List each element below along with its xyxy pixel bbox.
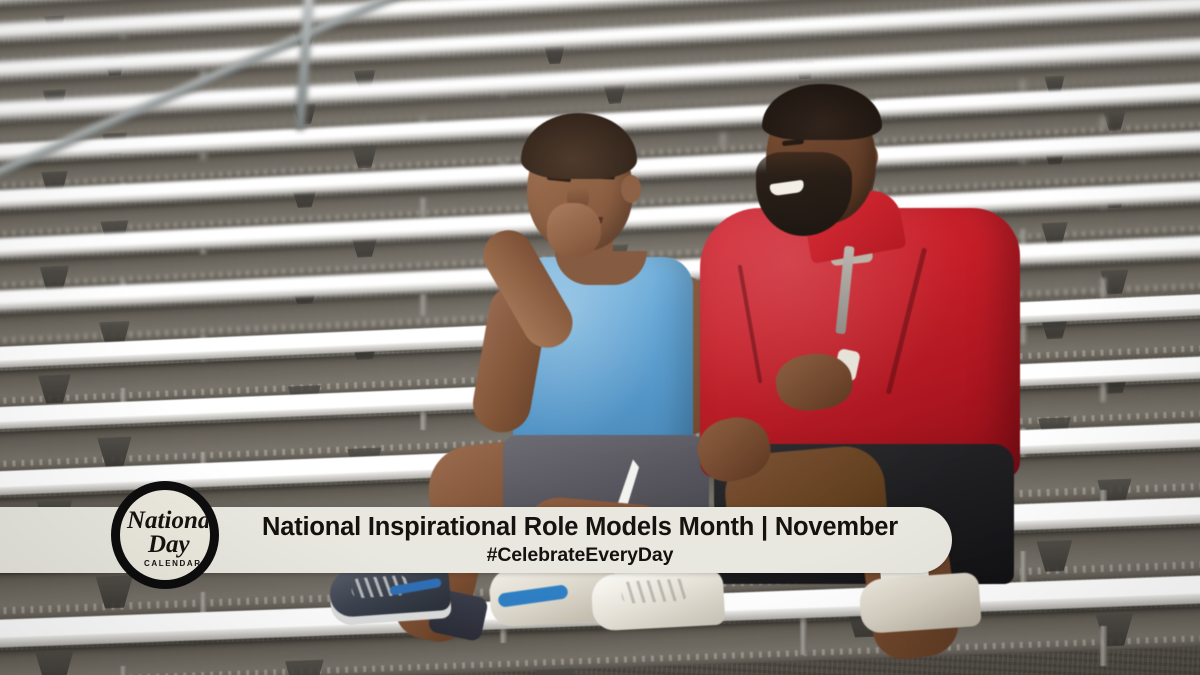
shoe-stripe (497, 584, 568, 608)
young-ear (621, 175, 641, 203)
national-day-calendar-logo: National Day CALENDAR (111, 481, 219, 589)
banner-hashtag: #CelebrateEveryDay (487, 544, 674, 566)
young-hand-at-mouth (547, 203, 601, 257)
caption-text-group: National Inspirational Role Models Month… (228, 507, 932, 573)
young-hair (521, 113, 637, 179)
shoe-white-center (591, 569, 726, 632)
older-hair (762, 84, 882, 140)
shoe-white-right (858, 572, 981, 634)
banner-title: National Inspirational Role Models Month… (262, 514, 898, 542)
logo-line-national: National (126, 507, 208, 534)
logo-line-day: Day (147, 531, 191, 558)
poster-canvas: National Inspirational Role Models Month… (0, 0, 1200, 675)
logo-wordmark-icon: National Day CALENDAR (122, 498, 208, 572)
shoe-laces (621, 578, 688, 603)
logo-line-calendar: CALENDAR (144, 559, 202, 568)
